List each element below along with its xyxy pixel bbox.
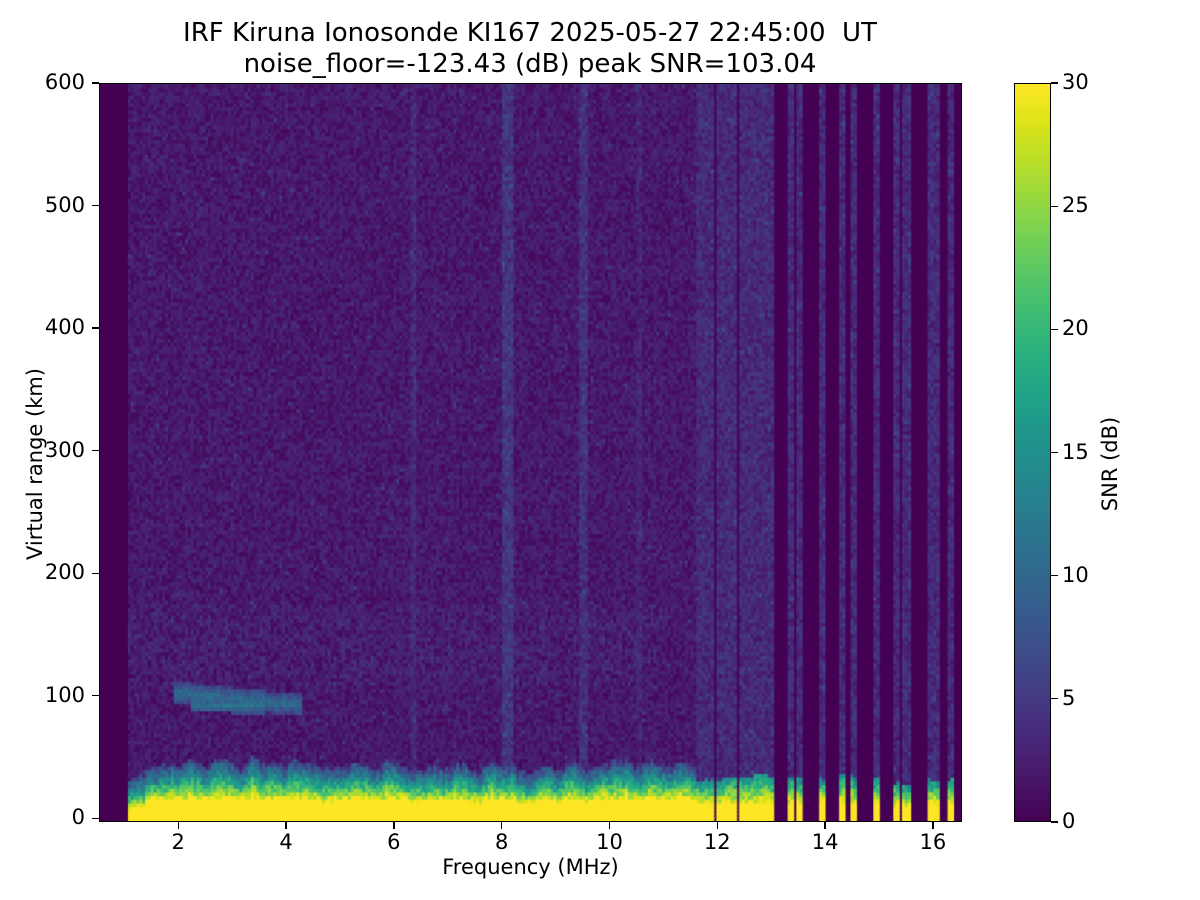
x-tick-label: 4 (256, 830, 316, 854)
colorbar-tick-mark (1051, 452, 1058, 453)
x-tick-mark (501, 822, 502, 829)
x-tick-label: 8 (472, 830, 532, 854)
x-tick-label: 16 (903, 830, 963, 854)
y-tick-mark (92, 450, 99, 451)
x-tick-label: 12 (687, 830, 747, 854)
y-tick-mark (92, 82, 99, 83)
y-tick-mark (92, 327, 99, 328)
y-tick-label: 600 (0, 70, 85, 94)
x-tick-mark (932, 822, 933, 829)
x-tick-label: 6 (364, 830, 424, 854)
colorbar-tick-label: 25 (1062, 193, 1089, 217)
y-tick-mark (92, 695, 99, 696)
y-axis-label: Virtual range (km) (23, 354, 47, 574)
x-tick-label: 14 (795, 830, 855, 854)
colorbar-tick-mark (1051, 206, 1058, 207)
y-tick-label: 0 (0, 805, 85, 829)
x-tick-label: 2 (148, 830, 208, 854)
x-tick-mark (178, 822, 179, 829)
y-tick-label: 200 (0, 560, 85, 584)
colorbar-tick-mark (1051, 575, 1058, 576)
x-tick-mark (824, 822, 825, 829)
colorbar[interactable] (1014, 83, 1051, 822)
colorbar-tick-label: 10 (1062, 563, 1089, 587)
colorbar-tick-mark (1051, 821, 1058, 822)
y-tick-mark (92, 573, 99, 574)
x-axis-label: Frequency (MHz) (99, 855, 962, 879)
chart-title-line-1: IRF Kiruna Ionosonde KI167 2025-05-27 22… (0, 18, 1060, 49)
ionogram-plot-area[interactable] (99, 83, 962, 822)
x-tick-label: 10 (579, 830, 639, 854)
colorbar-tick-label: 30 (1062, 70, 1089, 94)
colorbar-gradient (1015, 84, 1050, 821)
colorbar-tick-label: 0 (1062, 809, 1075, 833)
colorbar-tick-mark (1051, 329, 1058, 330)
x-tick-mark (609, 822, 610, 829)
ionogram-heatmap-canvas (100, 84, 961, 821)
colorbar-tick-mark (1051, 698, 1058, 699)
chart-title: IRF Kiruna Ionosonde KI167 2025-05-27 22… (0, 18, 1060, 80)
chart-title-line-2: noise_floor=-123.43 (dB) peak SNR=103.04 (0, 49, 1060, 80)
y-tick-label: 400 (0, 315, 85, 339)
colorbar-label: SNR (dB) (1098, 354, 1122, 574)
y-tick-label: 500 (0, 193, 85, 217)
y-tick-label: 300 (0, 438, 85, 462)
colorbar-tick-label: 15 (1062, 440, 1089, 464)
y-tick-mark (92, 818, 99, 819)
ionogram-figure: IRF Kiruna Ionosonde KI167 2025-05-27 22… (0, 0, 1200, 900)
x-tick-mark (285, 822, 286, 829)
colorbar-tick-mark (1051, 82, 1058, 83)
colorbar-tick-label: 20 (1062, 316, 1089, 340)
x-tick-mark (717, 822, 718, 829)
colorbar-tick-label: 5 (1062, 686, 1075, 710)
y-tick-label: 100 (0, 683, 85, 707)
y-tick-mark (92, 205, 99, 206)
x-tick-mark (393, 822, 394, 829)
